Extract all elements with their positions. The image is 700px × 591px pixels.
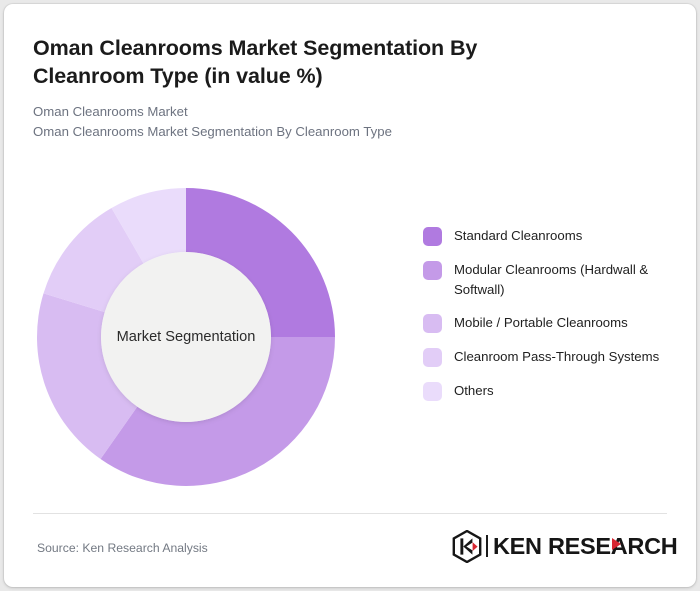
legend-color-swatch (423, 261, 442, 280)
legend-color-swatch (423, 382, 442, 401)
legend-color-swatch (423, 227, 442, 246)
legend-color-swatch (423, 348, 442, 367)
subtitle-group: Oman Cleanrooms Market Oman Cleanrooms M… (33, 102, 633, 141)
logo-separator (486, 535, 488, 557)
legend-color-swatch (423, 314, 442, 333)
hexagon-k-logo-icon (452, 530, 482, 563)
legend-item-label: Standard Cleanrooms (454, 226, 582, 246)
ken-research-logo: KEN RESE A RCH (452, 529, 677, 563)
legend-item-label: Modular Cleanrooms (Hardwall & Softwall) (454, 260, 682, 299)
page-title: Oman Cleanrooms Market Segmentation By C… (33, 34, 563, 90)
donut-chart: Market Segmentation (37, 188, 335, 486)
subtitle-market: Oman Cleanrooms Market (33, 102, 633, 122)
footer-divider (33, 513, 667, 514)
donut-hole (101, 252, 271, 422)
red-triangle-icon (612, 538, 621, 550)
legend-item[interactable]: Cleanroom Pass-Through Systems (423, 347, 685, 367)
chart-card: Oman Cleanrooms Market Segmentation By C… (4, 4, 696, 587)
logo-wordmark-part-2: RCH (627, 534, 677, 558)
legend-item-label: Mobile / Portable Cleanrooms (454, 313, 628, 333)
logo-wordmark-letter-a: A (611, 534, 628, 558)
legend-item[interactable]: Modular Cleanrooms (Hardwall & Softwall) (423, 260, 685, 299)
legend-item[interactable]: Standard Cleanrooms (423, 226, 685, 246)
logo-wordmark-part-1: KEN RESE (493, 534, 611, 558)
chart-header: Oman Cleanrooms Market Segmentation By C… (33, 34, 633, 141)
logo-wordmark: KEN RESE A RCH (493, 534, 677, 558)
legend-item-label: Others (454, 381, 494, 401)
legend-item-label: Cleanroom Pass-Through Systems (454, 347, 659, 367)
subtitle-segmentation: Oman Cleanrooms Market Segmentation By C… (33, 122, 633, 142)
source-note: Source: Ken Research Analysis (37, 541, 208, 555)
legend-item[interactable]: Others (423, 381, 685, 401)
donut-chart-svg (37, 188, 335, 486)
chart-legend: Standard CleanroomsModular Cleanrooms (H… (423, 226, 685, 401)
legend-item[interactable]: Mobile / Portable Cleanrooms (423, 313, 685, 333)
